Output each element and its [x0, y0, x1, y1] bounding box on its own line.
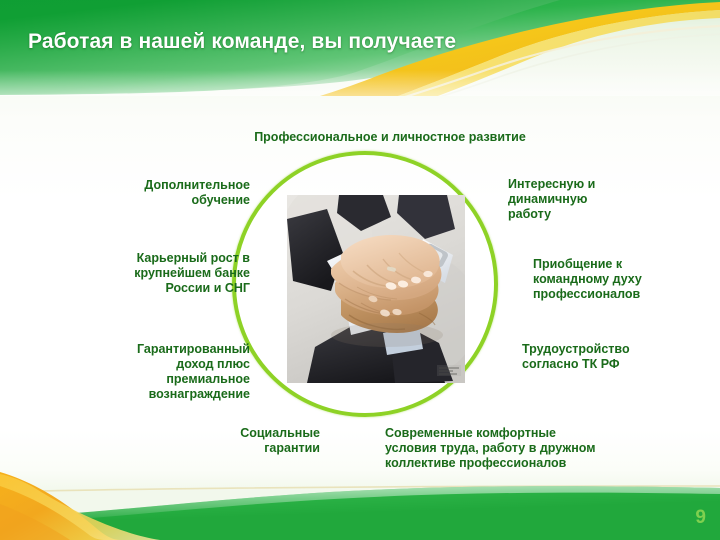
benefit-label-additional-training: Дополнительное обучение [50, 178, 250, 208]
page-title: Работая в нашей команде, вы получаете [28, 30, 456, 54]
team-hands-photo [287, 195, 465, 383]
benefit-label-team-spirit: Приобщение к командному духу профессиона… [533, 257, 720, 302]
slide-header: Работая в нашей команде, вы получаете [0, 0, 720, 96]
slide-footer [0, 444, 720, 540]
footer-graphic [0, 444, 720, 540]
team-hands-illustration [287, 195, 465, 383]
photo-watermark [437, 365, 461, 376]
benefit-label-professional-development: Профессиональное и личностное развитие [225, 130, 555, 145]
benefit-label-dynamic-work: Интересную и динамичную работу [508, 177, 708, 222]
benefit-label-guaranteed-income: Гарантированный доход плюс премиальное в… [30, 342, 250, 402]
presentation-slide: Работая в нашей команде, вы получаете [0, 0, 720, 540]
page-number: 9 [695, 508, 706, 527]
benefit-label-labor-code: Трудоустройство согласно ТК РФ [522, 342, 712, 372]
benefit-label-career-growth: Карьерный рост в крупнейшем банке России… [30, 251, 250, 296]
